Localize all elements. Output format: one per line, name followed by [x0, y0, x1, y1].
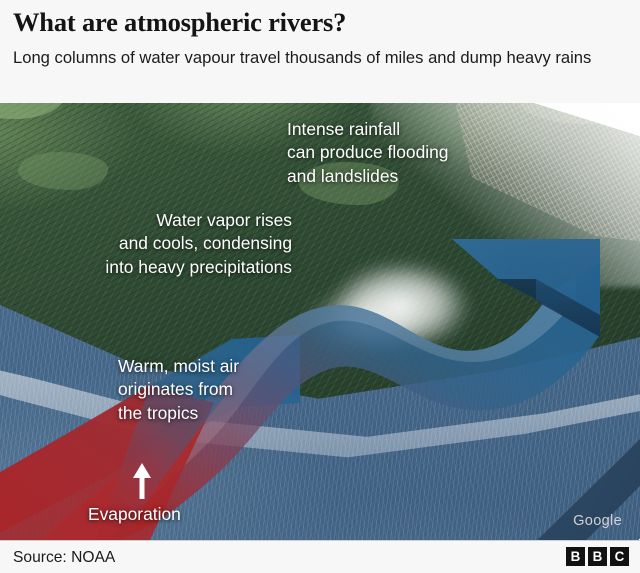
page-title: What are atmospheric rivers?: [13, 7, 346, 38]
bbc-logo-letter: B: [566, 547, 585, 566]
evaporation-up-arrow-icon: [131, 461, 153, 501]
google-watermark: Google: [573, 513, 622, 529]
chart-footer: Source: NOAA B B C: [0, 540, 640, 573]
atmospheric-river-graphic: Intense rainfall can produce flooding an…: [0, 103, 640, 540]
source-label: Source: NOAA: [13, 549, 115, 567]
bbc-logo-letter: C: [610, 547, 629, 566]
annotation-water-vapor: Water vapor rises and cools, condensing …: [38, 209, 292, 279]
bbc-logo-letter: B: [588, 547, 607, 566]
chart-header: What are atmospheric rivers? Long column…: [0, 0, 640, 103]
annotation-intense-rainfall: Intense rainfall can produce flooding an…: [287, 118, 448, 188]
annotation-warm-moist-air: Warm, moist air originates from the trop…: [118, 355, 239, 425]
annotation-evaporation: Evaporation: [88, 503, 181, 526]
bbc-logo: B B C: [566, 547, 629, 566]
page-subtitle: Long columns of water vapour travel thou…: [13, 46, 631, 70]
